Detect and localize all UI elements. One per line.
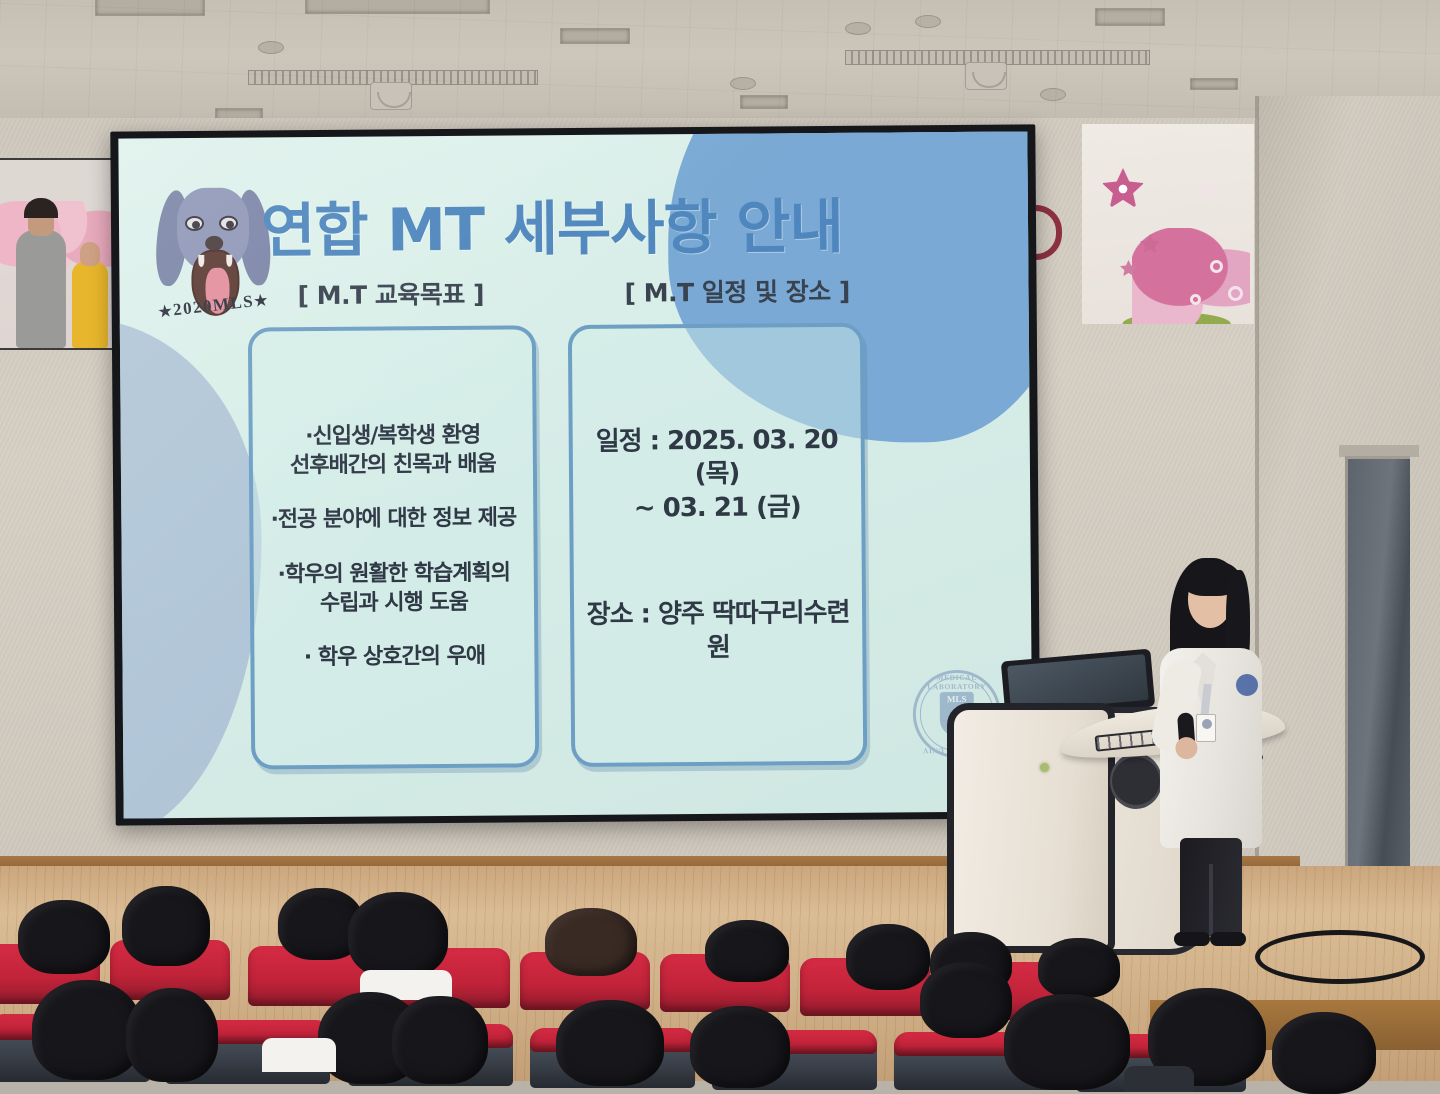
audience-head (545, 908, 637, 976)
dog-eye-left-icon (185, 216, 204, 231)
audience-head (690, 1006, 790, 1088)
schedule-location: 장소 : 양주 딱따구리수련원 (586, 597, 851, 667)
ceiling-vent-strip (845, 50, 1150, 65)
logo-year-text: 2020MLS (172, 291, 255, 319)
column-heading-schedule: [ M.T 일정 및 장소 ] (624, 272, 850, 310)
slide-title: 연합 MT 세부사항 안내 (261, 179, 843, 269)
ceiling-air-diffuser (370, 82, 412, 110)
mascot-dog-logo: ★2020MLS★ (153, 173, 274, 334)
cherry-blossom-banner (1082, 124, 1254, 324)
ceiling-air-diffuser (965, 62, 1007, 90)
audience-head (126, 988, 218, 1082)
ceiling-sprinkler (258, 41, 284, 54)
id-badge (1196, 714, 1216, 742)
blossom-ring-icon (1210, 260, 1223, 273)
auditorium-scene: ★2020MLS★ 연합 MT 세부사항 안내 [ M.T 교육목표 ] [ M… (0, 0, 1440, 1081)
ceiling-sprinkler (1040, 88, 1066, 101)
dog-tooth-icon (198, 255, 204, 267)
blossom-icon (1102, 168, 1144, 210)
ceiling-light-recessed (95, 0, 205, 16)
audience (0, 896, 1440, 1081)
audience-head (392, 996, 488, 1084)
goal-bullet-3: ·학우의 원활한 학습계획의 수립과 시행 도움 (277, 560, 510, 619)
power-indicator-icon (1040, 763, 1049, 772)
star-icon: ★ (253, 293, 270, 311)
audience-collar (262, 1038, 336, 1072)
blossom-ring-icon (1200, 184, 1214, 198)
dog-tooth-icon (226, 255, 232, 267)
audience-head (1272, 1012, 1376, 1094)
projection-screen-frame: ★2020MLS★ 연합 MT 세부사항 안내 [ M.T 교육목표 ] [ M… (110, 124, 1040, 825)
slide-decor-blob-left (118, 317, 263, 818)
projected-slide: ★2020MLS★ 연합 MT 세부사항 안내 [ M.T 교육목표 ] [ M… (118, 131, 1032, 818)
ceiling-light-recessed (1190, 78, 1238, 90)
blossom-ring-icon (1228, 286, 1243, 301)
goal-bullet-1: ·신입생/복학생 환영 선후배간의 친목과 배움 (290, 422, 496, 481)
ceiling-light-recessed (740, 95, 788, 109)
audience-head (122, 886, 210, 966)
ceiling-sprinkler (915, 15, 941, 28)
schedule-date-line-1: 일정 : 2025. 03. 20 (목) (585, 423, 850, 493)
audience-head (18, 900, 110, 974)
ceiling (0, 0, 1440, 128)
ceiling-sprinkler (845, 22, 871, 35)
audience-head (705, 920, 789, 982)
goal-bullet-4: · 학우 상호간의 우애 (304, 643, 485, 673)
goal-bullet-2: ·전공 분야에 대한 정보 제공 (270, 505, 516, 536)
audience-head (348, 892, 448, 978)
dog-eye-right-icon (219, 216, 238, 231)
blossom-ring-icon (1190, 294, 1201, 305)
ceiling-light-recessed (560, 28, 630, 44)
schedule-date-line-2: ~ 03. 21 (금) (634, 491, 801, 526)
goals-box: ·신입생/복학생 환영 선후배간의 친목과 배움 ·전공 분야에 대한 정보 제… (248, 325, 539, 769)
ceiling-vent-strip (248, 70, 538, 85)
student-illustration-poster (0, 158, 118, 350)
column-heading-goals: [ M.T 교육목표 ] (297, 275, 484, 312)
audience-head (920, 962, 1012, 1038)
audience-head (556, 1000, 664, 1086)
audience-head (1038, 938, 1120, 998)
poster-figure-jacket (72, 262, 108, 348)
ceiling-sprinkler (730, 77, 756, 90)
schedule-box: 일정 : 2025. 03. 20 (목) ~ 03. 21 (금) 장소 : … (568, 323, 867, 767)
audience-head (1004, 994, 1130, 1090)
exit-door[interactable] (1345, 456, 1410, 886)
ceiling-light-recessed (1095, 8, 1165, 26)
university-emblem-patch (1236, 674, 1258, 696)
poster-figure-hoodie (16, 230, 66, 348)
audience-head (846, 924, 930, 990)
ceiling-light-recessed (305, 0, 490, 14)
dog-nose-icon (205, 236, 223, 251)
audience-collar (1124, 1066, 1194, 1092)
